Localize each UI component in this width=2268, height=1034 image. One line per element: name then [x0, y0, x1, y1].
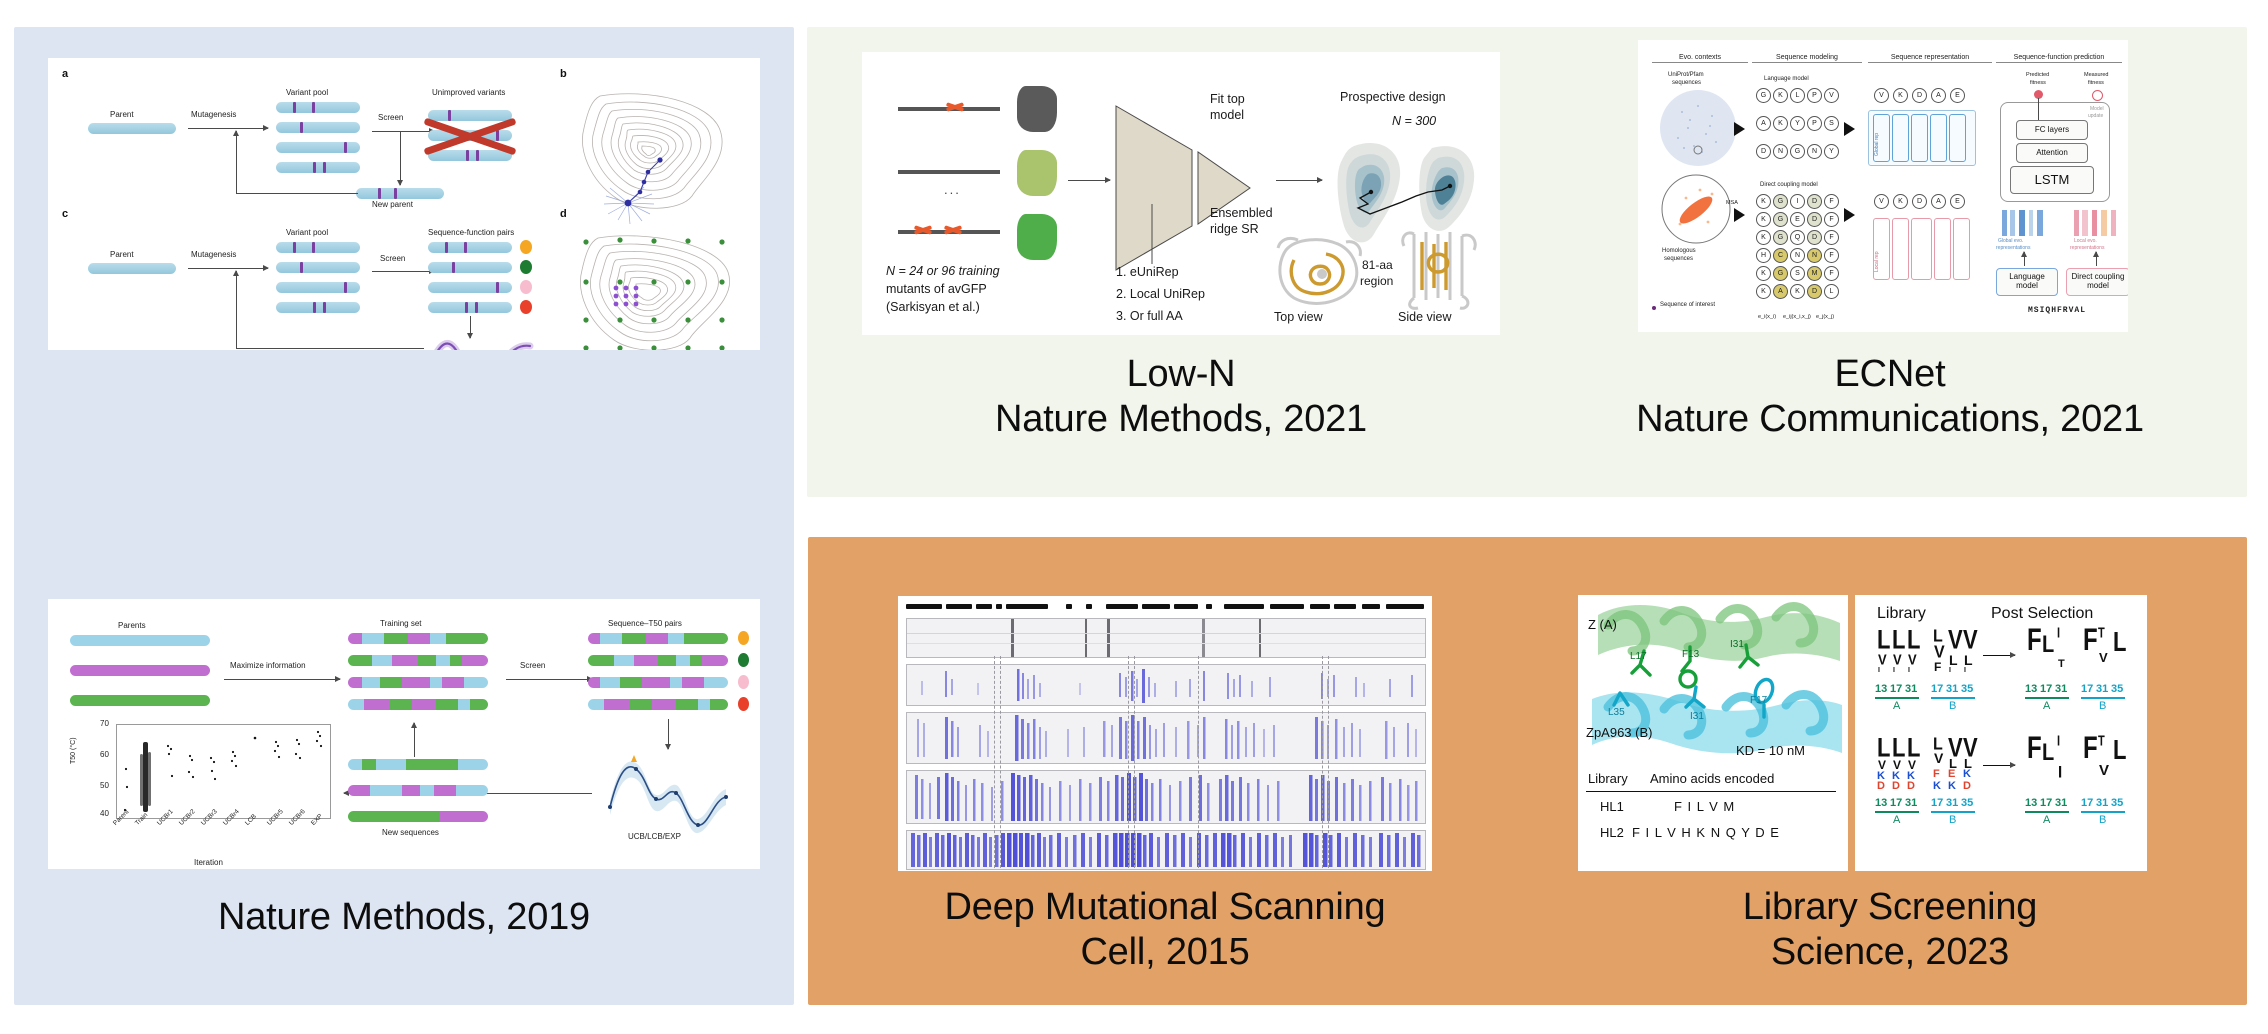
- figure-card-mlde-2019: Parents Maximize information Training se…: [48, 599, 760, 869]
- label-predicted-fitness-1: Predicted: [2026, 72, 2049, 78]
- local-evo-bars: [2074, 210, 2120, 236]
- sel-pos-a-31-bot: 31: [2055, 797, 2067, 809]
- pos-a-17-top: 17: [1890, 683, 1902, 695]
- label-training-line2: mutants of avGFP: [886, 282, 987, 296]
- label-screen-mlde: Screen: [520, 661, 545, 670]
- t50-dot-red: [738, 697, 749, 711]
- measured-fitness-marker: [2092, 90, 2103, 101]
- ucb-lcb-exp-curve: [604, 749, 732, 827]
- model-step-3: 3. Or full AA: [1116, 309, 1183, 323]
- sel-pos-b-35-top: 35: [2111, 683, 2123, 695]
- caption-ecnet-line1: ECNet: [1560, 352, 2220, 397]
- nn-block-lstm: LSTM: [2010, 166, 2094, 194]
- pos-a-31-bot: 31: [1905, 797, 1917, 809]
- caption-library-screening: Library Screening Science, 2023: [1560, 885, 2220, 975]
- label-global-rep: Global rep: [1874, 133, 1880, 156]
- pos-b-17-bot: 17: [1931, 797, 1943, 809]
- fitness-dot-orange: [520, 240, 532, 254]
- fitness-dot-pink: [520, 280, 532, 294]
- table-row-hl1-value: F I L V M: [1674, 799, 1735, 814]
- sel-set-label-a-top: A: [2043, 700, 2050, 712]
- caption-lown-line1: Low-N: [862, 352, 1500, 397]
- residue-I31-green: I31: [1730, 639, 1744, 650]
- pos-b-31-top: 31: [1946, 683, 1958, 695]
- label-homologous-2: sequences: [1664, 256, 1693, 262]
- table-header-library: Library: [1588, 771, 1628, 786]
- figure-canvas: a b c d Parent Mutagenesis Variant pool …: [0, 0, 2268, 1034]
- pos-b-35-top: 35: [1961, 683, 1973, 695]
- label-screen-c: Screen: [380, 254, 405, 263]
- logo-header-library: Library: [1877, 605, 1926, 623]
- sel-pos-b-17-top: 17: [2081, 683, 2093, 695]
- label-predicted-fitness-2: fitness: [2030, 80, 2046, 86]
- panel-letter-c: c: [62, 208, 68, 220]
- global-evo-bars: [2002, 210, 2048, 236]
- logo-selection-top-a: F L I T: [2027, 629, 2071, 681]
- logo-selection-bottom-a: F L I I: [2027, 737, 2071, 795]
- caption-directed-evolution: Nature Methods, 2019: [14, 895, 794, 940]
- pos-a-31-top: 31: [1905, 683, 1917, 695]
- caption-ecnet: ECNet Nature Communications, 2021: [1560, 352, 2220, 442]
- t50-dot-green: [738, 653, 749, 667]
- logo-selection-top-b: F T L V: [2083, 629, 2127, 681]
- label-maximize-information: Maximize information: [230, 661, 306, 670]
- model-step-1: 1. eUniRep: [1116, 265, 1179, 279]
- label-parent-c: Parent: [110, 250, 134, 259]
- label-measured-fitness-2: fitness: [2088, 80, 2104, 86]
- label-screen-a: Screen: [378, 113, 403, 122]
- panel-letter-a: a: [62, 68, 68, 80]
- label-direct-coupling-model: Direct coupling model: [1760, 182, 1818, 188]
- panel-letter-d: d: [560, 208, 567, 220]
- table-row-hl1-name: HL1: [1600, 799, 1624, 814]
- logo-library-top-b: L V V V L L F I I: [1933, 629, 1977, 681]
- ecnet-col-3: Sequence representation: [1868, 54, 1992, 63]
- ecnet-col-2: Sequence modeling: [1752, 54, 1862, 63]
- dms-row-3: [906, 770, 1426, 824]
- protein-side-view: [1392, 228, 1492, 312]
- caption-dms-line1: Deep Mutational Scanning: [850, 885, 1480, 930]
- logo-library-top-a: L L L V V V I I I: [1877, 629, 1921, 681]
- dms-row-structure: [906, 618, 1426, 658]
- t50-dot-pink: [738, 675, 749, 689]
- caption-dms: Deep Mutational Scanning Cell, 2015: [850, 885, 1480, 975]
- arrow-selection-bottom: [1983, 765, 2015, 766]
- figure-card-directed-evolution: a b c d Parent Mutagenesis Variant pool …: [48, 58, 760, 350]
- t50-scatter-chart: 70 60 50 40 T50 (°C): [86, 724, 331, 819]
- sel-pos-a-13-top: 13: [2025, 683, 2037, 695]
- label-global-evo-1: Global evo.: [1998, 238, 2023, 244]
- caption-dms-line2: Cell, 2015: [850, 930, 1480, 975]
- homologous-sequences-scatter: [1656, 172, 1736, 246]
- axis-label-y: T50 (°C): [70, 737, 77, 764]
- dms-row-2: [906, 712, 1426, 764]
- cross-out-unimproved: [422, 102, 518, 164]
- logo-selection-bottom-b: F T L V: [2083, 737, 2127, 795]
- protein-top-view: [1268, 234, 1368, 310]
- energy-term-i: e_i(x_i): [1758, 314, 1776, 320]
- scatter-points: [116, 724, 331, 819]
- residue-F13: F13: [1682, 649, 1699, 660]
- label-chain-b: ZpA963 (B): [1586, 725, 1652, 740]
- label-sequence-function-pairs: Sequence-function pairs: [428, 228, 514, 237]
- table-header-encoded: Amino acids encoded: [1650, 771, 1774, 786]
- label-local-rep: Local rep: [1874, 251, 1880, 272]
- pos-a-13-bot: 13: [1875, 797, 1887, 809]
- label-prospective-design: Prospective design: [1340, 90, 1446, 104]
- label-homologous-1: Homologous: [1662, 248, 1696, 254]
- caption-lib-line1: Library Screening: [1560, 885, 2220, 930]
- set-label-a-top: A: [1893, 700, 1900, 712]
- logo-header-post-selection: Post Selection: [1991, 605, 2093, 623]
- dms-row-4: [906, 830, 1426, 870]
- caption-lown-line2: Nature Methods, 2021: [862, 397, 1500, 442]
- t50-dot-orange: [738, 631, 749, 645]
- label-measured-fitness-1: Measured: [2084, 72, 2108, 78]
- caption-de-line1: Nature Methods, 2019: [14, 895, 794, 940]
- sel-pos-a-17-bot: 17: [2040, 797, 2052, 809]
- label-top-view: Top view: [1274, 310, 1323, 324]
- figure-card-deep-mutational-scanning: [898, 596, 1432, 871]
- pos-a-17-bot: 17: [1890, 797, 1902, 809]
- sel-pos-b-31-bot: 31: [2096, 797, 2108, 809]
- label-mutagenesis-a: Mutagenesis: [191, 110, 236, 119]
- dcm-box-line1: Direct coupling: [2067, 272, 2128, 281]
- pos-b-17-top: 17: [1931, 683, 1943, 695]
- residue-I31-cyan: I31: [1690, 711, 1704, 722]
- label-ensembled-2: ridge SR: [1210, 222, 1259, 236]
- energy-term-ij: e_ij(x_i,x_j): [1783, 314, 1811, 320]
- energy-term-j: e_j(x_j): [1816, 314, 1834, 320]
- axis-label-x: Iteration: [194, 858, 223, 867]
- table-row-hl2-value: F I L V H K N Q Y D E: [1632, 825, 1780, 840]
- logo-library-bottom-b: L V V V L L F E K K K D: [1933, 737, 1977, 795]
- label-training-line1: N = 24 or 96 training: [886, 264, 1000, 278]
- label-mutagenesis-c: Mutagenesis: [191, 250, 236, 259]
- sel-pos-a-31-top: 31: [2055, 683, 2067, 695]
- label-training-line3: (Sarkisyan et al.): [886, 300, 980, 314]
- fitness-dot-green: [520, 260, 532, 274]
- label-unimproved-a: Unimproved variants: [432, 88, 505, 97]
- arrow-selection-top: [1983, 655, 2015, 656]
- label-parents: Parents: [118, 621, 146, 630]
- lm-box-line2: model: [1997, 281, 2057, 290]
- label-fit-top-1: Fit top: [1210, 92, 1245, 106]
- dms-gene-track: [906, 604, 1424, 612]
- label-variant-pool-c: Variant pool: [286, 228, 328, 237]
- pos-b-31-bot: 31: [1946, 797, 1958, 809]
- figure-card-ecnet: Evo. contexts Sequence modeling Sequence…: [1638, 40, 2128, 332]
- legend-sequence-of-interest: Sequence of interest: [1660, 302, 1715, 308]
- sel-pos-b-35-bot: 35: [2111, 797, 2123, 809]
- gfp-blob-bright: [1017, 214, 1057, 260]
- label-n-300: N = 300: [1392, 114, 1436, 128]
- label-fit-top-2: model: [1210, 108, 1244, 122]
- sequence-universe-cloud: [1654, 88, 1742, 170]
- residue-F17: F17: [1750, 695, 1767, 706]
- ecnet-col-1: Evo. contexts: [1652, 54, 1748, 63]
- sequence-function-model-curve: [426, 336, 536, 350]
- ecnet-col-4: Sequence-function prediction: [1996, 54, 2122, 63]
- label-uniprot-1: UniProt/Pfam: [1668, 72, 1704, 78]
- sel-pos-b-17-bot: 17: [2081, 797, 2093, 809]
- sel-pos-a-17-top: 17: [2040, 683, 2052, 695]
- label-msa: MSA: [1726, 200, 1738, 206]
- caption-lib-line2: Science, 2023: [1560, 930, 2220, 975]
- label-ucb-lcb-exp: UCB/LCB/EXP: [628, 832, 681, 841]
- label-sequence-string: MSIQHFRVAL: [2028, 306, 2086, 315]
- label-local-evo-1: Local evo.: [2074, 238, 2097, 244]
- sel-set-label-a-bot: A: [2043, 814, 2050, 826]
- caption-ecnet-line2: Nature Communications, 2021: [1560, 397, 2220, 442]
- label-uniprot-2: sequences: [1672, 80, 1701, 86]
- label-local-evo-2: representations: [2070, 245, 2104, 251]
- nn-block-fc: FC layers: [2016, 120, 2088, 140]
- gfp-blob-dark: [1017, 86, 1057, 132]
- set-label-a-bot: A: [1893, 814, 1900, 826]
- label-training-set: Training set: [380, 619, 422, 628]
- sel-pos-a-13-bot: 13: [2025, 797, 2037, 809]
- pos-b-35-bot: 35: [1961, 797, 1973, 809]
- gfp-blob-pale: [1017, 150, 1057, 196]
- label-variant-pool-a: Variant pool: [286, 88, 328, 97]
- label-new-parent: New parent: [372, 200, 413, 209]
- label-parent-a: Parent: [110, 110, 134, 119]
- label-side-view: Side view: [1398, 310, 1452, 324]
- label-ensembled-1: Ensembled: [1210, 206, 1273, 220]
- panel-letter-b: b: [560, 68, 567, 80]
- caption-low-n: Low-N Nature Methods, 2021: [862, 352, 1500, 442]
- fitness-landscape-d: [568, 230, 748, 350]
- sel-set-label-b-bot: B: [2099, 814, 2106, 826]
- pos-a-13-top: 13: [1875, 683, 1887, 695]
- logo-library-bottom-a: L L L V V V K K K D D D: [1877, 737, 1921, 795]
- set-label-b-top: B: [1949, 700, 1956, 712]
- label-chain-a: Z (A): [1588, 617, 1617, 632]
- lm-box-line1: Language: [1997, 272, 2057, 281]
- dcm-box-line2: model: [2067, 281, 2128, 290]
- model-step-2: 2. Local UniRep: [1116, 287, 1205, 301]
- label-kd: KD = 10 nM: [1736, 743, 1805, 758]
- nn-block-attention: Attention: [2016, 143, 2088, 163]
- sel-set-label-b-top: B: [2099, 700, 2106, 712]
- label-language-model: Language model: [1764, 76, 1809, 82]
- fitness-landscape-b: [570, 88, 740, 213]
- figure-card-low-n: ... Fit top model Ensembled ridge SR: [862, 52, 1500, 335]
- fitness-dot-red: [520, 300, 532, 314]
- legend-dot-sequence-of-interest: [1652, 306, 1656, 310]
- label-new-sequences: New sequences: [382, 828, 439, 837]
- residue-L35: L35: [1608, 707, 1625, 718]
- label-sequence-t50-pairs: Sequence–T50 pairs: [608, 619, 682, 628]
- encoder-decoder-shapes: [1114, 104, 1264, 274]
- set-label-b-bot: B: [1949, 814, 1956, 826]
- dms-row-1: [906, 664, 1426, 706]
- figure-card-library-structure: Z (A) ZpA963 (B) L17 F13 I31 L35 I31 F17…: [1578, 595, 1848, 871]
- residue-L17: L17: [1630, 651, 1647, 662]
- table-row-hl2-name: HL2: [1600, 825, 1624, 840]
- figure-card-sequence-logos: Library Post Selection L L L V V V I I I…: [1852, 595, 2147, 871]
- sel-pos-b-31-top: 31: [2096, 683, 2108, 695]
